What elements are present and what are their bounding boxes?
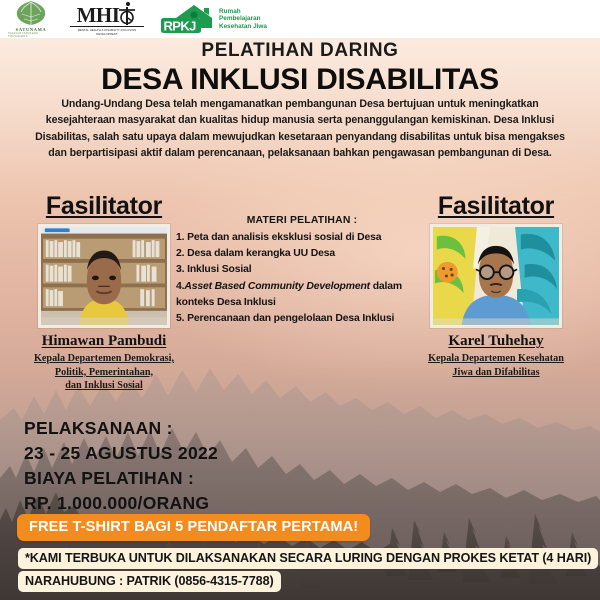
rpkj-line-3: Kesehatan Jiwa: [219, 23, 267, 31]
mhi-divider: [70, 26, 144, 27]
facilitator-role-right-line-2: Jiwa dan Difabilitas: [398, 366, 594, 380]
materi-item-1: 1. Peta dan analisis eksklusi sosial di …: [176, 230, 428, 246]
materi-item-2-text: Desa dalam kerangka UU Desa: [187, 248, 335, 259]
facilitator-role-right-line-1: Kepala Departemen Kesehatan: [398, 352, 594, 366]
note-line-2: NARAHUBUNG : PATRIK (0856-4315-7788): [18, 571, 281, 592]
materi-item-5-text: Perencanaan dan pengelolaan Desa Inklusi: [187, 313, 394, 324]
logo-band: SATUNAMA YAYASAN SATUNAMA YOGYAKARTA MHI…: [0, 0, 600, 38]
satunama-logo: SATUNAMA YAYASAN SATUNAMA YOGYAKARTA: [8, 0, 54, 38]
facilitator-name-left: Himawan Pambudi: [6, 332, 202, 350]
event-info-block: PELAKSANAAN : 23 - 25 AGUSTUS 2022 BIAYA…: [24, 416, 218, 516]
rpkj-house-icon: RPKJ: [160, 4, 216, 34]
rpkj-line-2: Pembelajaran: [219, 15, 267, 23]
pelaksanaan-value: 23 - 25 AGUSTUS 2022: [24, 441, 218, 466]
biaya-value: RP. 1.000.000/ORANG: [24, 491, 218, 516]
notes-block: *KAMI TERBUKA UNTUK DILAKSANAKAN SECARA …: [18, 548, 598, 594]
materi-item-1-text: Peta dan analisis eksklusi sosial di Des…: [187, 232, 381, 243]
facilitator-name-right: Karel Tuhehay: [398, 332, 594, 350]
facilitator-photo-frame-right: [430, 224, 562, 328]
facilitator-card-left: Fasilitator: [6, 192, 202, 393]
materi-item-5: 5. Perencanaan dan pengelolaan Desa Inkl…: [176, 311, 428, 327]
facilitator-role-left-line-1: Kepala Departemen Demokrasi,: [6, 352, 202, 366]
svg-text:RPKJ: RPKJ: [164, 19, 197, 34]
satunama-tagline: YAYASAN SATUNAMA YOGYAKARTA: [8, 32, 54, 38]
facilitator-photo-himawan-pambudi: [41, 227, 167, 325]
headline-block: PELATIHAN DARING DESA INKLUSI DISABILITA…: [0, 40, 600, 97]
materi-item-3-text: Inklusi Sosial: [187, 264, 251, 275]
mhi-wordmark: MHI: [77, 5, 120, 25]
facilitator-role-left-line-2: Politik, Pemerintahan,: [6, 366, 202, 380]
materi-item-3-number: 3.: [176, 264, 184, 275]
facilitator-role-left-line-3: dan Inklusi Sosial: [6, 379, 202, 393]
intro-paragraph: Undang-Undang Desa telah mengamanatkan p…: [26, 96, 574, 162]
facilitator-role-left: Kepala Departemen Demokrasi, Politik, Pe…: [6, 352, 202, 393]
facilitator-photo-karel-tuhehay: [433, 227, 559, 325]
materi-section: MATERI PELATIHAN : 1. Peta dan analisis …: [176, 214, 428, 327]
materi-item-2-number: 2.: [176, 248, 184, 259]
materi-item-4: 4.Asset Based Community Development dala…: [176, 279, 428, 311]
facilitator-role-right: Kepala Departemen Kesehatan Jiwa dan Dif…: [398, 352, 594, 379]
wheelchair-icon: [117, 1, 137, 25]
materi-item-3: 3. Inklusi Sosial: [176, 262, 428, 278]
free-tshirt-badge: FREE T-SHIRT BAGI 5 PENDAFTAR PERTAMA!: [17, 514, 370, 541]
materi-item-2: 2. Desa dalam kerangka UU Desa: [176, 246, 428, 262]
rpkj-logo: RPKJ Rumah Pembelajaran Kesehatan Jiwa: [160, 4, 267, 34]
pelaksanaan-label: PELAKSANAAN :: [24, 416, 218, 441]
facilitator-photo-frame-left: [38, 224, 170, 328]
materi-item-5-number: 5.: [176, 313, 184, 324]
kicker-text: PELATIHAN DARING: [0, 40, 600, 62]
leaf-icon: [14, 0, 48, 26]
biaya-label: BIAYA PELATIHAN :: [24, 466, 218, 491]
facilitator-label-left: Fasilitator: [6, 192, 202, 220]
poster-canvas: SATUNAMA YAYASAN SATUNAMA YOGYAKARTA MHI…: [0, 0, 600, 600]
mhi-logo: MHI MENTAL HEALTH & DISABILITY INCLUSION…: [68, 1, 146, 37]
rpkj-line-1: Rumah: [219, 8, 267, 16]
rpkj-wordmark: Rumah Pembelajaran Kesehatan Jiwa: [219, 8, 267, 31]
mhi-tagline: MENTAL HEALTH & DISABILITY INCLUSION DEV…: [68, 29, 146, 37]
materi-list: 1. Peta dan analisis eksklusi sosial di …: [176, 230, 428, 327]
materi-item-4-text-italic: Asset Based Community Development: [184, 281, 370, 292]
page-title: DESA INKLUSI DISABILITAS: [0, 63, 600, 97]
materi-item-1-number: 1.: [176, 232, 184, 243]
materi-title: MATERI PELATIHAN :: [176, 214, 428, 228]
note-line-1: *KAMI TERBUKA UNTUK DILAKSANAKAN SECARA …: [18, 548, 598, 569]
